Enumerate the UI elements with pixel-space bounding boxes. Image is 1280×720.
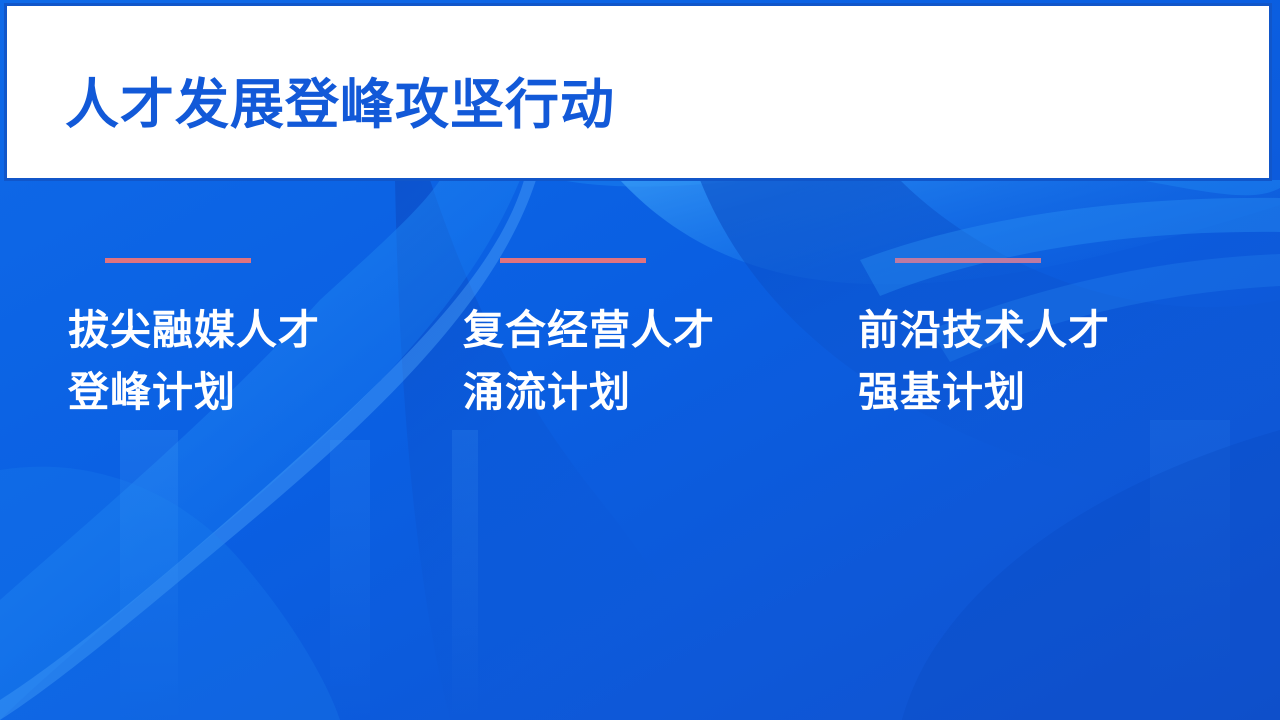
plan-title-line-2: 强基计划 [858, 361, 1258, 423]
plan-title: 拔尖融媒人才 登峰计划 [68, 299, 468, 423]
plan-card-1[interactable]: 拔尖融媒人才 登峰计划 [68, 258, 468, 423]
plan-title-line-2: 登峰计划 [68, 361, 468, 423]
plan-card-2[interactable]: 复合经营人才 涌流计划 [463, 258, 863, 423]
plan-title-line-1: 复合经营人才 [463, 299, 863, 361]
title-bar: 人才发展登峰攻坚行动 [4, 3, 1272, 181]
plan-title: 复合经营人才 涌流计划 [463, 299, 863, 423]
plan-title-line-1: 前沿技术人才 [858, 299, 1258, 361]
plan-title: 前沿技术人才 强基计划 [858, 299, 1258, 423]
plan-accent-rule [895, 258, 1041, 263]
plan-accent-rule [500, 258, 646, 263]
plan-title-line-1: 拔尖融媒人才 [68, 299, 468, 361]
plan-title-line-2: 涌流计划 [463, 361, 863, 423]
plan-card-3[interactable]: 前沿技术人才 强基计划 [858, 258, 1258, 423]
page-title: 人才发展登峰攻坚行动 [65, 78, 615, 132]
presentation-slide: 人才发展登峰攻坚行动 拔尖融媒人才 登峰计划 复合经营人才 涌流计划 前沿技术人… [0, 0, 1280, 720]
plan-accent-rule [105, 258, 251, 263]
plan-columns: 拔尖融媒人才 登峰计划 复合经营人才 涌流计划 前沿技术人才 强基计划 [0, 258, 1280, 488]
